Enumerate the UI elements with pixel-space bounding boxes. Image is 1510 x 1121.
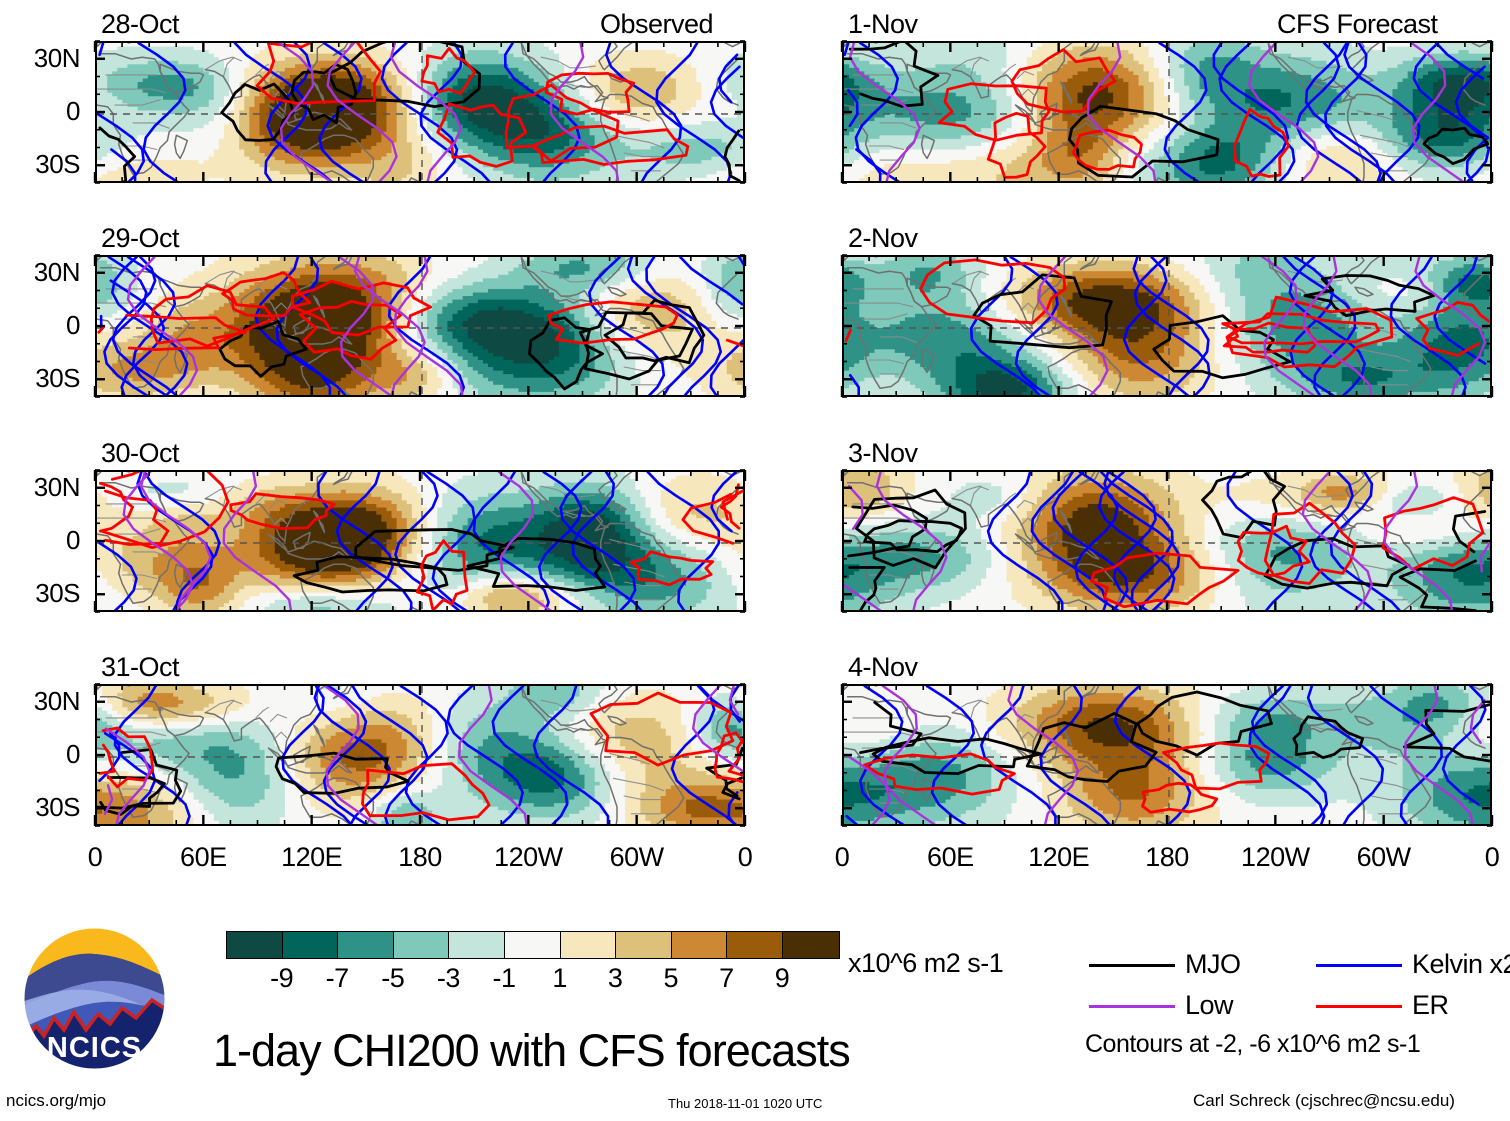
y-axis-label: 0 xyxy=(0,525,80,556)
colorbar-segment xyxy=(394,932,450,958)
panel-date-label: 31-Oct xyxy=(101,652,179,683)
x-axis-tick-label: 180 xyxy=(360,842,480,873)
panel-date-label: 28-Oct xyxy=(101,9,179,40)
map-panel[interactable] xyxy=(842,255,1492,397)
x-axis-tick-label: 120E xyxy=(252,842,372,873)
author-credit: Carl Schreck (cjschrec@ncsu.edu) xyxy=(1193,1091,1455,1111)
map-panel[interactable] xyxy=(95,684,745,826)
colorbar-segment xyxy=(727,932,783,958)
colorbar-segment xyxy=(561,932,617,958)
legend-label-er: ER xyxy=(1412,990,1449,1021)
colorbar-segment xyxy=(616,932,672,958)
panel-date-label: 2-Nov xyxy=(848,223,918,254)
panel-date-label: 30-Oct xyxy=(101,438,179,469)
x-axis-tick-label: 120W xyxy=(468,842,588,873)
x-axis-tick-label: 120W xyxy=(1215,842,1335,873)
y-axis-label: 0 xyxy=(0,739,80,770)
site-url[interactable]: ncics.org/mjo xyxy=(6,1091,106,1111)
y-axis-label: 30N xyxy=(0,43,80,74)
colorbar xyxy=(226,931,840,959)
legend-label-low: Low xyxy=(1185,990,1233,1021)
colorbar-segment xyxy=(449,932,505,958)
legend-swatch-er xyxy=(1316,1005,1402,1008)
colorbar-segment xyxy=(505,932,561,958)
x-axis-tick-label: 180 xyxy=(1107,842,1227,873)
map-panel[interactable] xyxy=(842,41,1492,183)
ncics-logo: NCICS xyxy=(22,926,167,1071)
y-axis-label: 30S xyxy=(0,578,80,609)
x-axis-tick-label: 60E xyxy=(890,842,1010,873)
y-axis-label: 30S xyxy=(0,363,80,394)
legend-label-kelvin: Kelvin x2 xyxy=(1412,949,1510,980)
panel-date-label: 4-Nov xyxy=(848,652,918,683)
x-axis-tick-label: 60W xyxy=(577,842,697,873)
legend-swatch-mjo xyxy=(1089,964,1175,967)
y-axis-label: 30N xyxy=(0,257,80,288)
colorbar-segment xyxy=(283,932,339,958)
map-panel[interactable] xyxy=(95,255,745,397)
legend-swatch-low xyxy=(1089,1005,1175,1008)
y-axis-label: 0 xyxy=(0,310,80,341)
y-axis-label: 30N xyxy=(0,686,80,717)
y-axis-label: 30S xyxy=(0,792,80,823)
x-axis-tick-label: 0 xyxy=(782,842,902,873)
column-header: CFS Forecast xyxy=(1277,9,1438,40)
y-axis-label: 0 xyxy=(0,96,80,127)
legend-label-mjo: MJO xyxy=(1185,949,1241,980)
figure-title: 1-day CHI200 with CFS forecasts xyxy=(213,1025,850,1077)
x-axis-tick-label: 0 xyxy=(35,842,155,873)
panel-date-label: 29-Oct xyxy=(101,223,179,254)
map-panel[interactable] xyxy=(95,41,745,183)
map-panel[interactable] xyxy=(842,684,1492,826)
panel-date-label: 3-Nov xyxy=(848,438,918,469)
contour-interval-note: Contours at -2, -6 x10^6 m2 s-1 xyxy=(1085,1030,1420,1059)
panel-date-label: 1-Nov xyxy=(848,9,918,40)
map-panel[interactable] xyxy=(842,470,1492,612)
timestamp: Thu 2018-11-01 1020 UTC xyxy=(668,1096,822,1111)
y-axis-label: 30N xyxy=(0,472,80,503)
column-header: Observed xyxy=(600,9,713,40)
x-axis-tick-label: 60E xyxy=(143,842,263,873)
colorbar-segment xyxy=(672,932,728,958)
x-axis-tick-label: 60W xyxy=(1324,842,1444,873)
colorbar-segment xyxy=(783,932,839,958)
x-axis-tick-label: 120E xyxy=(999,842,1119,873)
x-axis-tick-label: 0 xyxy=(1432,842,1510,873)
colorbar-units-label: x10^6 m2 s-1 xyxy=(848,948,1003,979)
colorbar-tick-label: 9 xyxy=(742,963,822,994)
y-axis-label: 30S xyxy=(0,149,80,180)
colorbar-segment xyxy=(338,932,394,958)
legend-swatch-kelvin xyxy=(1316,964,1402,967)
map-panel[interactable] xyxy=(95,470,745,612)
colorbar-segment xyxy=(227,932,283,958)
